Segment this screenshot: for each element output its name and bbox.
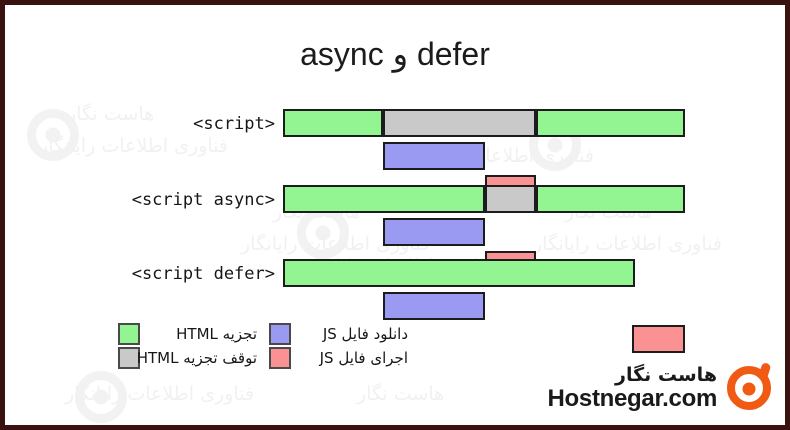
bar-segment (485, 185, 536, 213)
bar-segment (283, 185, 485, 213)
bar-segment (383, 292, 485, 320)
watermark-text: فناوری اطلاعات رایانگار (65, 383, 254, 405)
legend-label-3: دانلود فایل JS (298, 325, 408, 343)
bar-segment (536, 185, 685, 213)
row-label-2: <script async> (85, 190, 275, 210)
row-label-3: <script defer> (85, 264, 275, 284)
bar-segment (283, 109, 383, 137)
watermark-text: فناوری اطلاعات رایانگار (39, 135, 228, 157)
legend-label-2: توقف تجزیه HTML (147, 349, 257, 367)
watermark-text: فناوری اطلاعات رایانگار (533, 233, 722, 255)
watermark-text: هاست نگار (357, 383, 444, 405)
legend-label-1: تجزیه HTML (147, 325, 257, 343)
legend-label-4: اجرای فایل JS (298, 349, 408, 367)
brand-name-en: Hostnegar.com (548, 386, 717, 411)
legend-swatch-4 (269, 347, 291, 369)
bar-segment (632, 325, 685, 353)
hostnegar-logo-icon (727, 366, 771, 410)
watermark-logo-mark (27, 109, 79, 161)
legend-swatch-1 (118, 323, 140, 345)
brand-logo-block: هاست نگار Hostnegar.com (548, 366, 771, 411)
bar-segment (283, 259, 635, 287)
bar-segment (383, 142, 485, 170)
watermark-logo-mark (75, 371, 127, 423)
bar-segment (383, 218, 485, 246)
brand-text: هاست نگار Hostnegar.com (548, 366, 717, 411)
legend-swatch-3 (269, 323, 291, 345)
bar-segment (383, 109, 536, 137)
brand-name-fa: هاست نگار (615, 366, 717, 386)
page-title: defer و async (5, 35, 785, 73)
watermark-logo-mark (297, 207, 349, 259)
bar-segment (536, 109, 685, 137)
row-label-1: <script> (85, 114, 275, 134)
infographic-canvas: هاست نگار فناوری اطلاعات رایانگار هاست ن… (0, 0, 790, 430)
